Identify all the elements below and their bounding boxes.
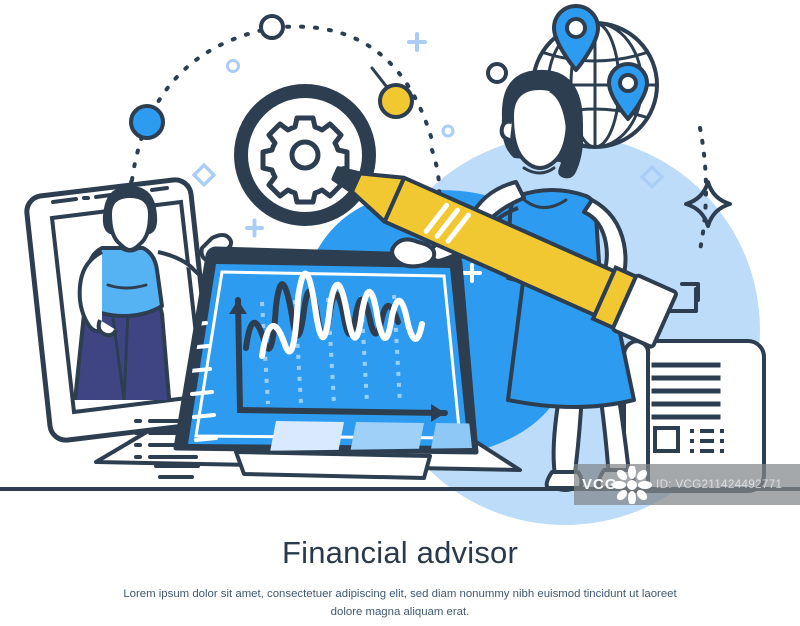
illustration-canvas: .ol{fill:none;stroke:#2d3e50;stroke-widt… bbox=[0, 0, 800, 626]
advisor-hand-on-pencil bbox=[392, 239, 434, 266]
watermark-id: ID: VCG211424492771 bbox=[656, 479, 782, 491]
watermark-burst-icon bbox=[612, 466, 652, 504]
plus-pale-top bbox=[409, 34, 425, 50]
orbit-node-outline bbox=[261, 16, 283, 38]
circle-pale-small bbox=[228, 61, 239, 72]
gear-icon bbox=[263, 118, 347, 202]
page-subtitle: Lorem ipsum dolor sit amet, consectetuer… bbox=[120, 586, 680, 621]
orbit-node-blue bbox=[131, 106, 163, 138]
watermark-bar: VCG ID: VCG211424492771 bbox=[574, 464, 800, 505]
caption-block: Financial advisor Lorem ipsum dolor sit … bbox=[0, 536, 800, 621]
page-title: Financial advisor bbox=[0, 536, 800, 570]
financial-advisor-artwork: .ol{fill:none;stroke:#2d3e50;stroke-widt… bbox=[0, 0, 800, 626]
circle-pale-small-2 bbox=[443, 126, 453, 136]
orbit-node-yellow bbox=[372, 68, 412, 117]
diamond-pale-left bbox=[194, 165, 214, 185]
orbit-node-small-outline bbox=[488, 64, 506, 82]
watermark-logo: VCG bbox=[574, 464, 652, 505]
plus-pale-left bbox=[247, 221, 262, 236]
